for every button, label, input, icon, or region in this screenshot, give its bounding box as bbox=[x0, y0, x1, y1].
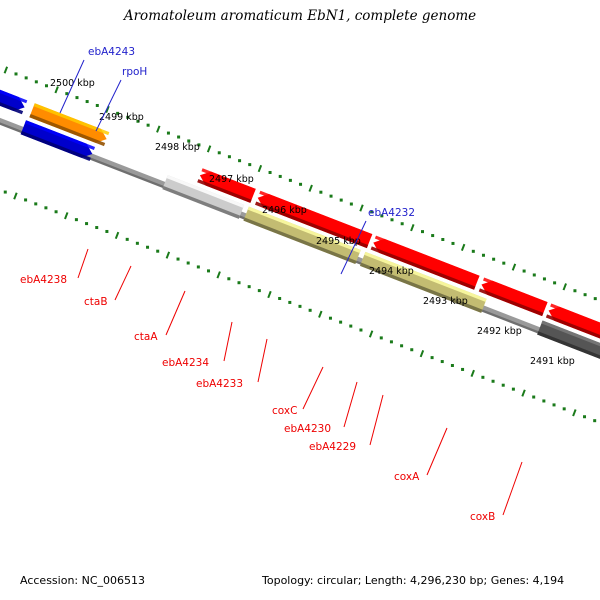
gene-label-coxB[interactable]: coxB bbox=[470, 511, 495, 523]
ruler-tick-minor bbox=[126, 238, 129, 241]
ruler-tick-minor bbox=[105, 230, 108, 233]
footer-stats: Topology: circular; Length: 4,296,230 bp… bbox=[261, 574, 564, 587]
ruler-tick-minor bbox=[309, 309, 312, 312]
gene-label-coxA[interactable]: coxA bbox=[394, 471, 420, 483]
ruler-tick-minor bbox=[584, 293, 587, 296]
ruler-label-2498-kbp: 2498 kbp bbox=[155, 142, 200, 153]
ruler-tick-minor bbox=[278, 297, 281, 300]
ruler-label-2494-kbp: 2494 kbp bbox=[369, 266, 414, 277]
ruler-label-2496-kbp: 2496 kbp bbox=[262, 205, 307, 216]
ruler-tick-minor bbox=[583, 415, 586, 418]
ruler-tick-minor bbox=[197, 265, 200, 268]
ruler-tick-minor bbox=[472, 250, 475, 253]
ruler-tick-minor bbox=[269, 171, 272, 174]
ruler-tick-minor bbox=[228, 155, 231, 158]
ruler-tick-minor bbox=[542, 399, 545, 402]
ruler-tick-minor bbox=[75, 218, 78, 221]
ruler-tick-minor bbox=[410, 348, 413, 351]
ruler-tick-minor bbox=[492, 258, 495, 261]
ruler-tick-minor bbox=[218, 151, 221, 154]
ruler-tick-minor bbox=[461, 368, 464, 371]
ruler-tick-minor bbox=[167, 132, 170, 135]
ruler-tick-minor bbox=[177, 258, 180, 261]
ruler-tick-minor bbox=[45, 84, 48, 87]
genome-map-canvas: Aromatoleum aromaticum EbN1, complete ge… bbox=[0, 0, 600, 600]
ruler-tick-minor bbox=[481, 376, 484, 379]
ruler-tick-minor bbox=[482, 254, 485, 257]
ruler-tick-minor bbox=[279, 175, 282, 178]
ruler-label-2493-kbp: 2493 kbp bbox=[423, 296, 468, 307]
ruler-tick-minor bbox=[289, 179, 292, 182]
ruler-label-2492-kbp: 2492 kbp bbox=[477, 326, 522, 337]
ruler-label-2491-kbp: 2491 kbp bbox=[530, 356, 575, 367]
ruler-tick-minor bbox=[573, 289, 576, 292]
ruler-tick-minor bbox=[593, 419, 596, 422]
ruler-tick-minor bbox=[594, 297, 597, 300]
ruler-tick-minor bbox=[95, 226, 98, 229]
ruler-tick-minor bbox=[237, 281, 240, 284]
ruler-tick-minor bbox=[248, 163, 251, 166]
ruler-tick-minor bbox=[492, 380, 495, 383]
gene-label-ebA4233[interactable]: ebA4233 bbox=[196, 378, 243, 390]
ruler-tick-minor bbox=[207, 269, 210, 272]
gene-label-ebA4243[interactable]: ebA4243 bbox=[88, 46, 135, 58]
ruler-tick-minor bbox=[451, 364, 454, 367]
gene-label-ctaA[interactable]: ctaA bbox=[134, 331, 158, 343]
ruler-tick-minor bbox=[187, 262, 190, 265]
page-title: Aromatoleum aromaticum EbN1, complete ge… bbox=[122, 8, 476, 24]
gene-label-ebA4230[interactable]: ebA4230 bbox=[284, 423, 331, 435]
footer-accession: Accession: NC_006513 bbox=[20, 574, 145, 587]
ruler-tick-minor bbox=[238, 159, 241, 162]
ruler-tick-minor bbox=[350, 203, 353, 206]
ruler-tick-minor bbox=[227, 277, 230, 280]
ruler-tick-minor bbox=[319, 191, 322, 194]
ruler-tick-minor bbox=[553, 281, 556, 284]
ruler-tick-minor bbox=[55, 210, 58, 213]
ruler-tick-minor bbox=[330, 195, 333, 198]
ruler-tick-minor bbox=[298, 305, 301, 308]
ruler-tick-minor bbox=[563, 407, 566, 410]
ruler-tick-minor bbox=[4, 191, 7, 194]
ruler-tick-minor bbox=[339, 321, 342, 324]
ruler-tick-minor bbox=[543, 277, 546, 280]
gene-label-ebA4229[interactable]: ebA4229 bbox=[309, 441, 356, 453]
ruler-tick-minor bbox=[24, 198, 27, 201]
ruler-tick-minor bbox=[532, 396, 535, 399]
ruler-tick-minor bbox=[441, 238, 444, 241]
ruler-tick-minor bbox=[96, 104, 99, 107]
ruler-label-2499-kbp: 2499 kbp bbox=[99, 112, 144, 123]
ruler-tick-minor bbox=[299, 183, 302, 186]
ruler-tick-minor bbox=[288, 301, 291, 304]
gene-label-ebA4238[interactable]: ebA4238 bbox=[20, 274, 67, 286]
ruler-tick-minor bbox=[349, 325, 352, 328]
ruler-tick-minor bbox=[329, 317, 332, 320]
ruler-tick-minor bbox=[512, 388, 515, 391]
ruler-tick-minor bbox=[35, 80, 38, 83]
ruler-tick-minor bbox=[401, 222, 404, 225]
ruler-label-2497-kbp: 2497 kbp bbox=[209, 174, 254, 185]
gene-label-ctaB[interactable]: ctaB bbox=[84, 296, 108, 308]
ruler-tick-minor bbox=[431, 234, 434, 237]
ruler-tick-minor bbox=[248, 285, 251, 288]
ruler-tick-minor bbox=[421, 230, 424, 233]
ruler-tick-minor bbox=[502, 384, 505, 387]
gene-label-ebA4234[interactable]: ebA4234 bbox=[162, 357, 209, 369]
ruler-tick-minor bbox=[15, 72, 18, 75]
ruler-tick-minor bbox=[34, 202, 37, 205]
ruler-tick-minor bbox=[502, 262, 505, 265]
ruler-tick-minor bbox=[390, 340, 393, 343]
ruler-tick-minor bbox=[523, 270, 526, 273]
ruler-tick-minor bbox=[451, 242, 454, 245]
ruler-tick-minor bbox=[177, 136, 180, 139]
ruler-label-2500-kbp: 2500 kbp bbox=[50, 78, 95, 89]
ruler-tick-minor bbox=[156, 250, 159, 253]
ruler-tick-minor bbox=[258, 289, 261, 292]
ruler-tick-minor bbox=[441, 360, 444, 363]
ruler-tick-minor bbox=[340, 199, 343, 202]
gene-label-coxC[interactable]: coxC bbox=[272, 405, 297, 417]
ruler-tick-minor bbox=[85, 222, 88, 225]
ruler-tick-minor bbox=[136, 242, 139, 245]
ruler-tick-minor bbox=[400, 344, 403, 347]
ruler-tick-minor bbox=[44, 206, 47, 209]
ruler-tick-minor bbox=[75, 96, 78, 99]
gene-label-ebA4232[interactable]: ebA4232 bbox=[368, 207, 415, 219]
ruler-tick-minor bbox=[359, 329, 362, 332]
gene-label-rpoH[interactable]: rpoH bbox=[122, 66, 147, 78]
ruler-tick-minor bbox=[147, 124, 150, 127]
ruler-tick-minor bbox=[431, 356, 434, 359]
ruler-tick-minor bbox=[380, 336, 383, 339]
ruler-tick-minor bbox=[86, 100, 89, 103]
ruler-tick-minor bbox=[146, 246, 149, 249]
ruler-tick-minor bbox=[553, 403, 556, 406]
ruler-tick-minor bbox=[25, 76, 28, 79]
ruler-tick-minor bbox=[533, 273, 536, 276]
